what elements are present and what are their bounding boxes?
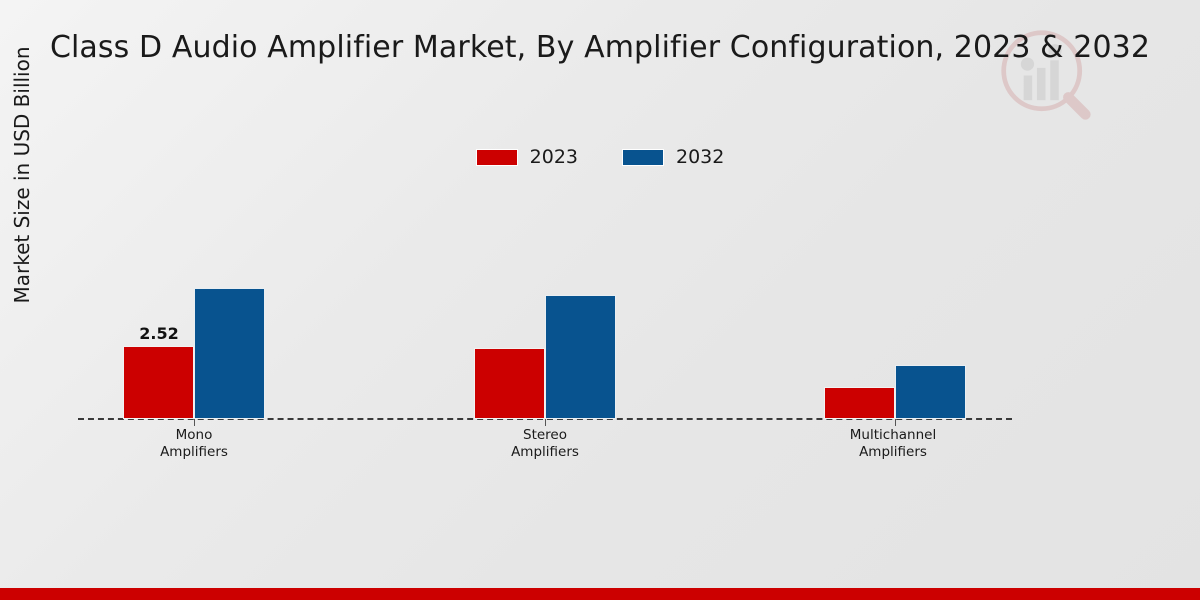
x-axis-tick-multichannel [895,419,896,426]
x-axis-label-mono-line1: Mono [84,427,304,444]
x-axis-label-mono-amplifiers: Mono Amplifiers [84,427,304,461]
chart-container: Class D Audio Amplifier Market, By Ampli… [0,0,1200,600]
bar-stereo-amplifiers-2032[interactable] [545,295,616,419]
bar-mono-amplifiers-2023[interactable] [123,346,194,419]
x-axis-label-stereo-line1: Stereo [435,427,655,444]
x-axis-label-multichannel-line1: Multichannel [783,427,1003,444]
bar-mono-amplifiers-2032[interactable] [194,288,265,419]
x-axis-tick-stereo [545,419,546,426]
footer-accent-band [0,588,1200,600]
x-axis-label-stereo-amplifiers: Stereo Amplifiers [435,427,655,461]
x-axis-label-multichannel-amplifiers: Multichannel Amplifiers [783,427,1003,461]
x-axis-label-stereo-line2: Amplifiers [435,444,655,461]
bar-multichannel-amplifiers-2032[interactable] [895,365,966,419]
x-axis-tick-mono [194,419,195,426]
bar-multichannel-amplifiers-2023[interactable] [824,387,895,419]
x-axis-label-multichannel-line2: Amplifiers [783,444,1003,461]
x-axis-label-mono-line2: Amplifiers [84,444,304,461]
bar-stereo-amplifiers-2023[interactable] [474,348,545,419]
plot-area: 2.52 Mono Amplifiers Stereo Amplifiers M… [0,0,1200,600]
